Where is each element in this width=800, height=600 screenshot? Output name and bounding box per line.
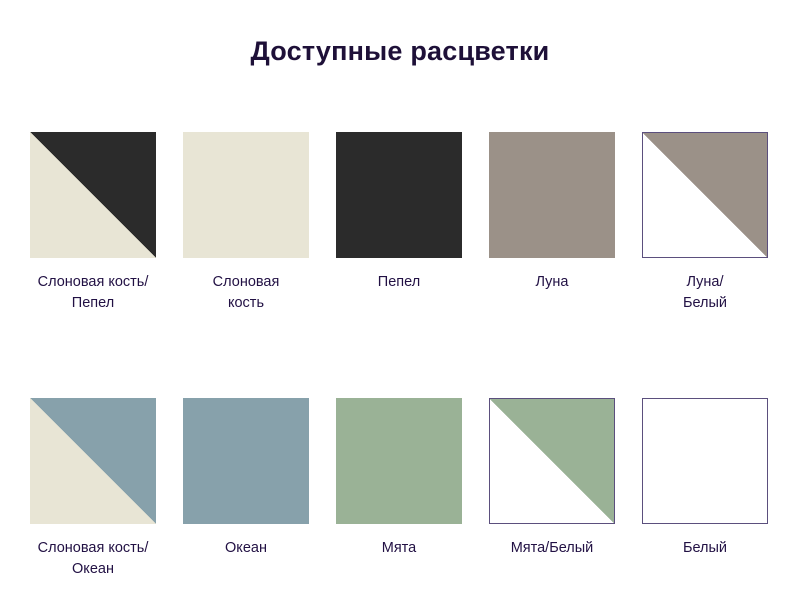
swatch-label-ivory: Слоновая кость (166, 272, 326, 314)
swatch-base-fill (336, 398, 462, 524)
swatch-label-ash: Пепел (319, 272, 479, 293)
swatch-label-ivory-ocean: Слоновая кость/ Океан (13, 538, 173, 580)
swatch-base-fill (183, 132, 309, 258)
swatch-accent-triangle (643, 133, 767, 257)
color-swatch-ivory-ocean[interactable] (30, 398, 156, 524)
swatch-label-moon: Луна (472, 272, 632, 293)
swatch-base-fill (489, 132, 615, 258)
color-swatch-ash[interactable] (336, 132, 462, 258)
swatch-label-ivory-ash: Слоновая кость/ Пепел (13, 272, 173, 314)
swatch-cell-mint-white[interactable]: Мята/Белый (489, 398, 615, 580)
swatch-base-fill (183, 398, 309, 524)
swatch-label-moon-white: Луна/ Белый (625, 272, 785, 314)
color-swatch-ivory-ash[interactable] (30, 132, 156, 258)
swatch-base-fill (336, 132, 462, 258)
color-swatch-mint[interactable] (336, 398, 462, 524)
swatch-label-mint: Мята (319, 538, 479, 559)
swatch-base-fill (643, 399, 767, 523)
color-swatch-moon-white[interactable] (642, 132, 768, 258)
swatch-cell-white[interactable]: Белый (642, 398, 768, 580)
color-swatch-ivory[interactable] (183, 132, 309, 258)
swatch-cell-moon[interactable]: Луна (489, 132, 615, 314)
page-title: Доступные расцветки (0, 34, 800, 68)
swatch-label-ocean: Океан (166, 538, 326, 559)
swatch-accent-triangle (490, 399, 614, 523)
swatch-cell-moon-white[interactable]: Луна/ Белый (642, 132, 768, 314)
swatch-accent-triangle (30, 132, 156, 258)
swatch-cell-ivory[interactable]: Слоновая кость (183, 132, 309, 314)
color-swatch-mint-white[interactable] (489, 398, 615, 524)
swatch-label-mint-white: Мята/Белый (472, 538, 632, 559)
swatch-label-white: Белый (625, 538, 785, 559)
swatch-cell-ocean[interactable]: Океан (183, 398, 309, 580)
color-swatch-ocean[interactable] (183, 398, 309, 524)
swatch-cell-mint[interactable]: Мята (336, 398, 462, 580)
swatch-cell-ivory-ocean[interactable]: Слоновая кость/ Океан (30, 398, 156, 580)
swatch-grid: Слоновая кость/ ПепелСлоновая костьПепел… (30, 132, 776, 580)
swatch-cell-ash[interactable]: Пепел (336, 132, 462, 314)
swatch-accent-triangle (30, 398, 156, 524)
swatch-cell-ivory-ash[interactable]: Слоновая кость/ Пепел (30, 132, 156, 314)
color-swatch-moon[interactable] (489, 132, 615, 258)
color-swatch-white[interactable] (642, 398, 768, 524)
color-options-page: Доступные расцветки Слоновая кость/ Пепе… (0, 0, 800, 600)
